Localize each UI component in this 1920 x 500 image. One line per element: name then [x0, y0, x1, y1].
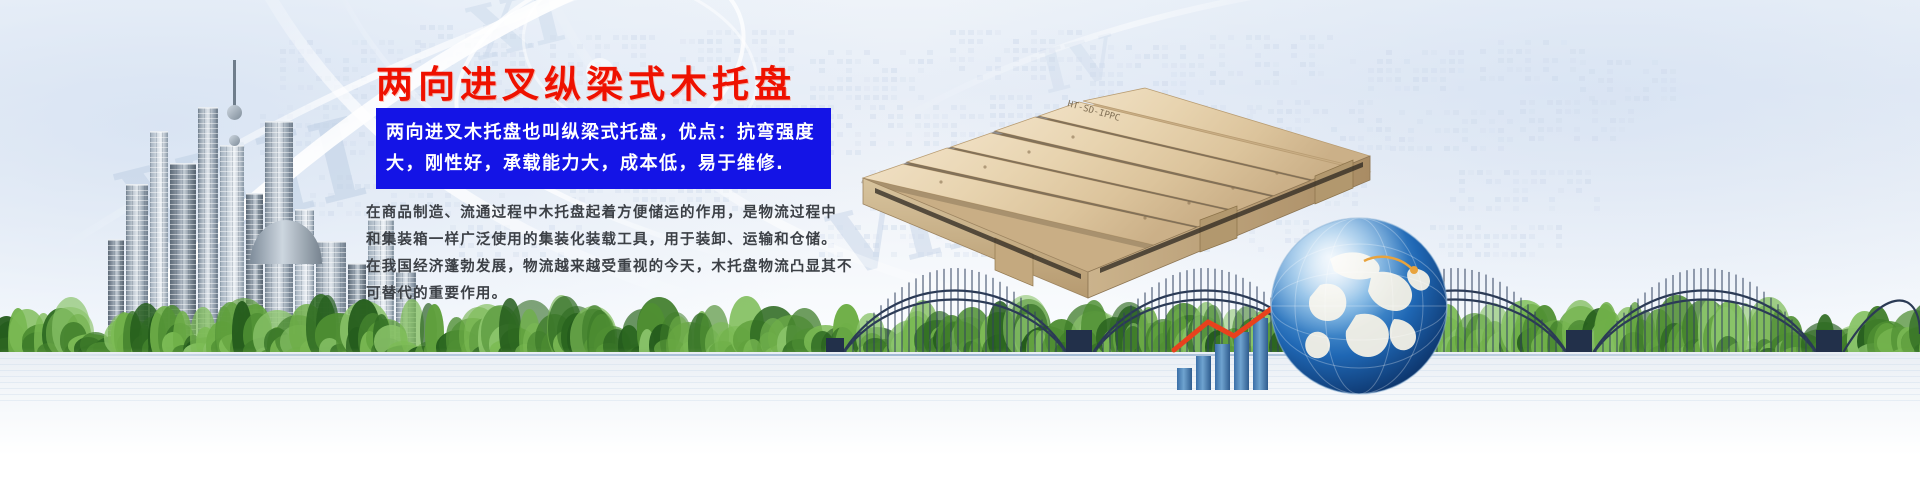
highlight-line: 两向进叉木托盘也叫纵梁式托盘，优点：抗弯强度: [386, 117, 821, 148]
highlight-callout-box: 两向进叉木托盘也叫纵梁式托盘，优点：抗弯强度 大，刚性好，承载能力大，成本低，易…: [376, 108, 831, 189]
description-line: 在我国经济蓬勃发展，物流越来越受重视的今天，木托盘物流凸显其不: [366, 254, 846, 281]
earth-globe-icon: [1268, 215, 1450, 397]
description-paragraphs: 在商品制造、流通过程中木托盘起着方便储运的作用，是物流过程中 和集装箱一样广泛使…: [366, 200, 846, 308]
description-line: 和集装箱一样广泛使用的集装化装载工具，用于装卸、运输和仓储。: [366, 227, 846, 254]
description-line: 在商品制造、流通过程中木托盘起着方便储运的作用，是物流过程中: [366, 200, 846, 227]
horizon-line: [0, 354, 1920, 356]
chart-bar: [1177, 368, 1192, 390]
product-banner: VIII VII XI IV: [0, 0, 1920, 500]
page-title: 两向进叉纵梁式木托盘: [376, 54, 796, 108]
description-line: 可替代的重要作用。: [366, 281, 846, 308]
highlight-line: 大，刚性好，承载能力大，成本低，易于维修.: [386, 148, 821, 179]
water-ripples: [0, 358, 1920, 404]
